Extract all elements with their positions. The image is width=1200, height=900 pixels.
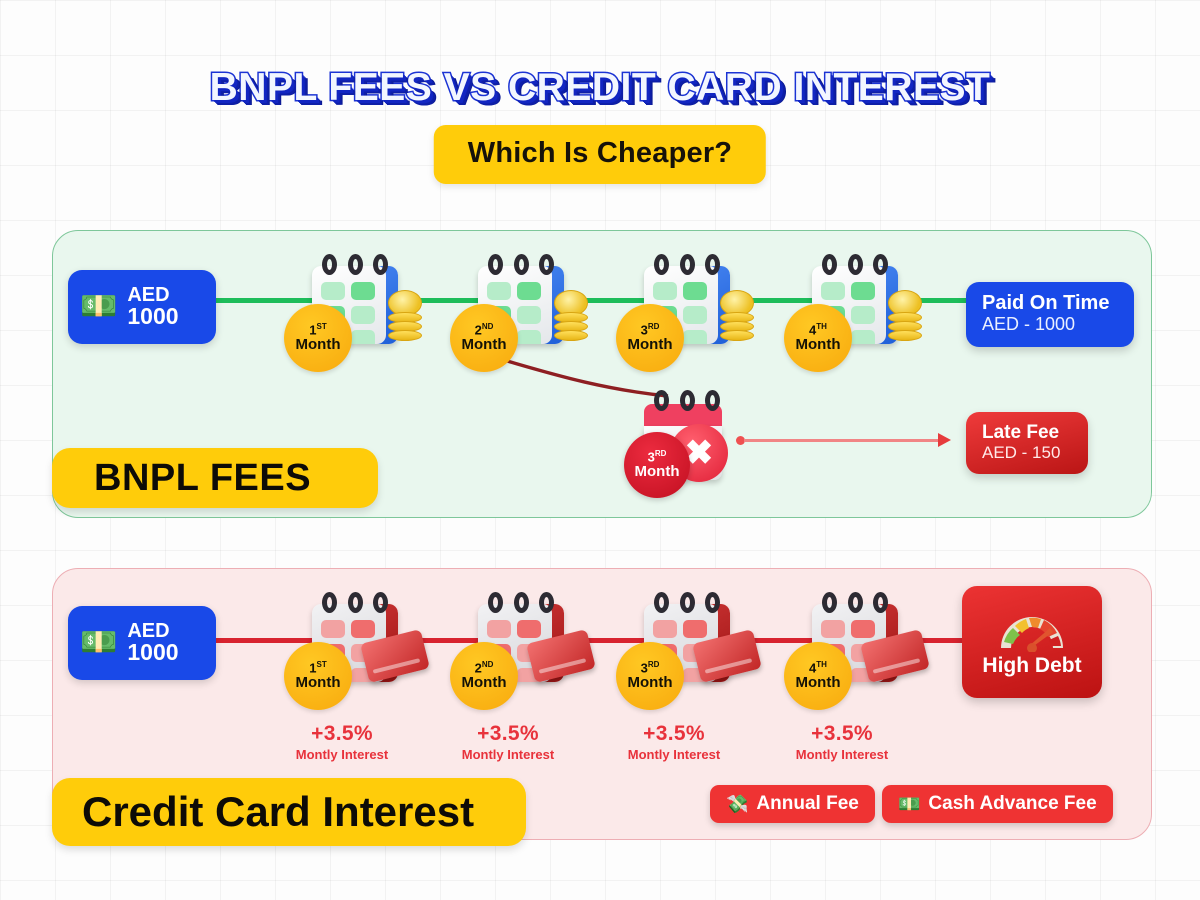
money-emoji-icon: 💵	[80, 292, 117, 322]
page-title: BNPL FEES VS CREDIT CARD INTEREST	[0, 66, 1200, 110]
bnpl-value: 1000	[127, 305, 178, 329]
calendar-rings-icon	[488, 592, 554, 612]
dollar-banknote-emoji-icon: 💵	[898, 794, 920, 815]
credit-section-label: Credit Card Interest	[52, 778, 526, 846]
month-ordinal: 3RD	[641, 661, 660, 674]
calendar-rings-icon	[822, 592, 888, 612]
paid-on-time-card: Paid On Time AED - 1000	[966, 282, 1134, 347]
paid-on-time-amount: AED - 1000	[982, 314, 1118, 334]
interest-note: +3.5% Montly Interest	[428, 722, 588, 762]
high-debt-card: High Debt	[962, 586, 1102, 698]
credit-amount-card: 💵 AED 1000	[68, 606, 216, 680]
month-badge[interactable]: 2ND Month	[450, 642, 518, 710]
month-badge[interactable]: 4TH Month	[784, 304, 852, 372]
interest-rate: +3.5%	[428, 722, 588, 746]
paid-on-time-title: Paid On Time	[982, 292, 1118, 314]
calendar-x-icon: ✖ 3RD Month	[644, 398, 730, 482]
interest-note: +3.5% Montly Interest	[262, 722, 422, 762]
calendar-rings-icon	[488, 254, 554, 274]
cash-advance-fee-label: Cash Advance Fee	[928, 793, 1096, 815]
cash-advance-fee-pill[interactable]: 💵 Cash Advance Fee	[882, 785, 1113, 823]
interest-label: Montly Interest	[262, 747, 422, 762]
interest-label: Montly Interest	[762, 747, 922, 762]
late-fee-amount: AED - 150	[982, 443, 1072, 462]
bnpl-section-label: BNPL FEES	[52, 448, 378, 508]
calendar-rings-icon	[654, 254, 720, 274]
late-month-badge[interactable]: 3RD Month	[624, 432, 690, 498]
subtitle-pill: Which Is Cheaper?	[434, 125, 766, 184]
month-ordinal: 3RD	[641, 323, 660, 336]
calendar-rings-icon	[654, 592, 720, 612]
money-with-wings-emoji-icon: 💸	[726, 794, 748, 815]
coin-stack-icon	[886, 290, 926, 344]
month-badge[interactable]: 3RD Month	[616, 642, 684, 710]
month-word: Month	[628, 675, 673, 691]
annual-fee-label: Annual Fee	[756, 793, 858, 815]
gauge-icon	[995, 606, 1069, 652]
month-ordinal: 4TH	[809, 323, 827, 336]
bnpl-currency: AED	[127, 285, 178, 306]
credit-currency: AED	[127, 621, 178, 642]
month-word: Month	[796, 675, 841, 691]
calendar-rings-icon	[822, 254, 888, 274]
credit-value: 1000	[127, 641, 178, 665]
month-word: Month	[628, 337, 673, 353]
bnpl-amount-card: 💵 AED 1000	[68, 270, 216, 344]
interest-note: +3.5% Montly Interest	[762, 722, 922, 762]
late-month-word: Month	[635, 464, 680, 480]
bnpl-amount-text: AED 1000	[127, 285, 178, 330]
infographic-canvas: BNPL FEES VS CREDIT CARD INTEREST Which …	[0, 0, 1200, 900]
interest-label: Montly Interest	[594, 747, 754, 762]
month-ordinal: 4TH	[809, 661, 827, 674]
month-word: Month	[462, 337, 507, 353]
month-badge[interactable]: 4TH Month	[784, 642, 852, 710]
month-word: Month	[462, 675, 507, 691]
annual-fee-pill[interactable]: 💸 Annual Fee	[710, 785, 875, 823]
late-fee-title: Late Fee	[982, 422, 1072, 443]
month-badge[interactable]: 3RD Month	[616, 304, 684, 372]
month-word: Month	[296, 337, 341, 353]
interest-rate: +3.5%	[594, 722, 754, 746]
credit-amount-text: AED 1000	[127, 621, 178, 666]
interest-rate: +3.5%	[762, 722, 922, 746]
interest-rate: +3.5%	[262, 722, 422, 746]
month-ordinal: 1ST	[309, 661, 326, 674]
month-ordinal: 1ST	[309, 323, 326, 336]
late-fee-connector	[736, 434, 958, 446]
coin-stack-icon	[386, 290, 426, 344]
month-badge[interactable]: 2ND Month	[450, 304, 518, 372]
late-month-ordinal: 3RD	[648, 450, 667, 463]
month-word: Month	[796, 337, 841, 353]
month-badge[interactable]: 1ST Month	[284, 642, 352, 710]
month-word: Month	[296, 675, 341, 691]
calendar-rings-icon	[322, 254, 388, 274]
late-fee-card: Late Fee AED - 150	[966, 412, 1088, 474]
month-ordinal: 2ND	[475, 323, 494, 336]
calendar-rings-icon	[322, 592, 388, 612]
month-ordinal: 2ND	[475, 661, 494, 674]
high-debt-label: High Debt	[982, 654, 1081, 678]
money-emoji-icon: 💵	[80, 628, 117, 658]
month-badge[interactable]: 1ST Month	[284, 304, 352, 372]
calendar-rings-icon	[654, 390, 720, 410]
coin-stack-icon	[718, 290, 758, 344]
coin-stack-icon	[552, 290, 592, 344]
interest-note: +3.5% Montly Interest	[594, 722, 754, 762]
interest-label: Montly Interest	[428, 747, 588, 762]
